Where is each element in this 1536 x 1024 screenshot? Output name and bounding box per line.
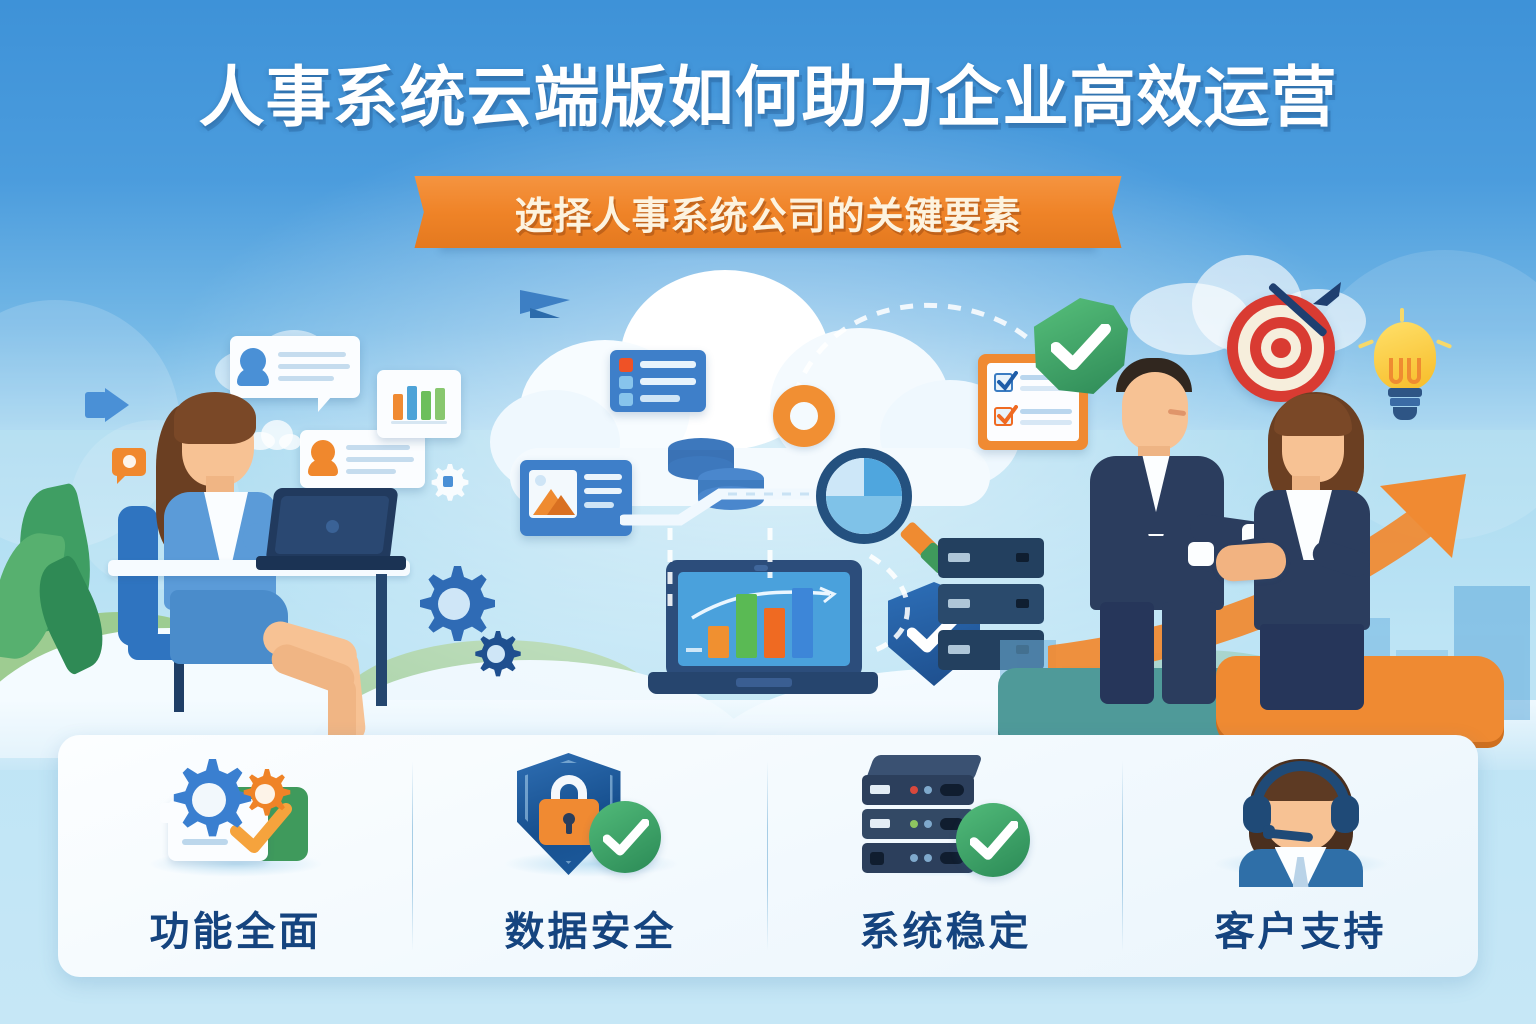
chat-bubble-person-blue [230, 336, 360, 398]
feature-label: 功能全面 [150, 899, 322, 957]
feature-card-stability[interactable]: 系统稳定 [768, 735, 1123, 977]
shield-lock-check-icon [491, 751, 691, 887]
feature-label: 系统稳定 [860, 899, 1032, 957]
paper-plane-icon [520, 290, 574, 324]
chart-bar [435, 388, 445, 420]
gear-icon [425, 458, 471, 504]
laptop [256, 488, 408, 574]
feature-label: 客户支持 [1215, 899, 1387, 957]
subtitle-ribbon-row: 选择人事系统公司的关键要素 [0, 176, 1536, 248]
feature-panel: 功能全面 数据安全 [58, 735, 1478, 977]
subtitle-text: 选择人事系统公司的关键要素 [514, 185, 1021, 240]
desk [108, 560, 410, 706]
subtitle-ribbon: 选择人事系统公司的关键要素 [440, 176, 1095, 248]
gears-checklist-icon [136, 751, 336, 887]
feature-label: 数据安全 [505, 899, 677, 957]
partnership-growth-scene [1020, 270, 1536, 740]
infographic-poster: 人事系统云端版如何助力企业高效运营 选择人事系统公司的关键要素 [0, 0, 1536, 1024]
check-icon [603, 819, 649, 857]
chart-bar [421, 391, 431, 420]
check-icon [970, 821, 1018, 861]
arrow-tag-icon [85, 388, 129, 422]
gear-icon [236, 765, 294, 823]
media-document-card [520, 460, 632, 536]
orange-ring-icon [773, 385, 835, 447]
chart-bar [393, 394, 403, 420]
support-agent-headset-icon [1201, 751, 1401, 887]
chat-dot-icon [112, 448, 146, 476]
bar-chart-card [377, 370, 461, 438]
page-title: 人事系统云端版如何助力企业高效运营 [0, 62, 1536, 133]
hr-officer-working-scene [60, 330, 500, 720]
dashed-data-flow [620, 526, 940, 676]
document-list-card [610, 350, 706, 412]
feature-card-security[interactable]: 数据安全 [413, 735, 768, 977]
feature-card-functionality[interactable]: 功能全面 [58, 735, 413, 977]
person-body-icon [237, 368, 269, 386]
businessman [1082, 358, 1262, 704]
handshake-icon [1215, 542, 1287, 583]
server-stack-check-icon [846, 751, 1046, 887]
title-block: 人事系统云端版如何助力企业高效运营 [0, 62, 1536, 133]
feature-card-support[interactable]: 客户支持 [1123, 735, 1478, 977]
chart-bar [407, 386, 417, 420]
